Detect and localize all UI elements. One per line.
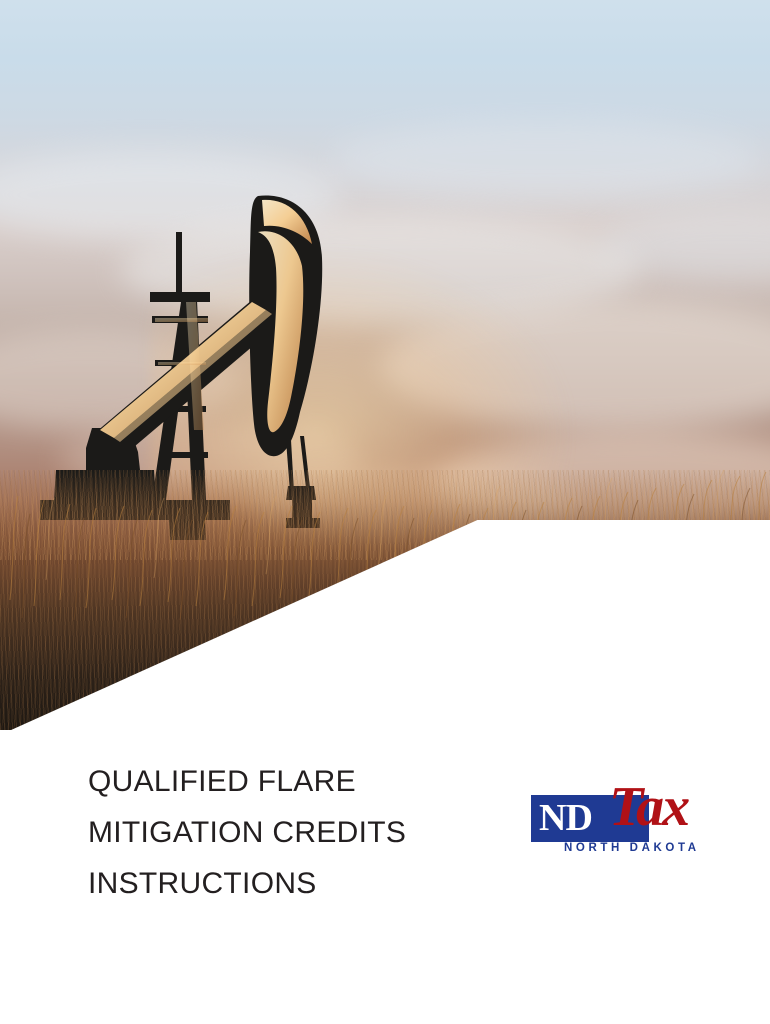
- nd-tax-logo: ND Tax NORTH DAKOTA: [531, 776, 721, 854]
- cover-footer: QUALIFIED FLARE MITIGATION CREDITS INSTR…: [0, 730, 770, 1024]
- page-title-line-2: MITIGATION CREDITS: [88, 807, 518, 858]
- logo-tax-text: Tax: [609, 776, 688, 838]
- logo-subtitle: NORTH DAKOTA: [564, 842, 700, 854]
- page-title-line-1: QUALIFIED FLARE: [88, 756, 518, 807]
- page-title-line-3: INSTRUCTIONS: [88, 858, 518, 909]
- cover-photo: [0, 0, 770, 730]
- document-page: QUALIFIED FLARE MITIGATION CREDITS INSTR…: [0, 0, 770, 1024]
- page-title: QUALIFIED FLARE MITIGATION CREDITS INSTR…: [88, 756, 518, 909]
